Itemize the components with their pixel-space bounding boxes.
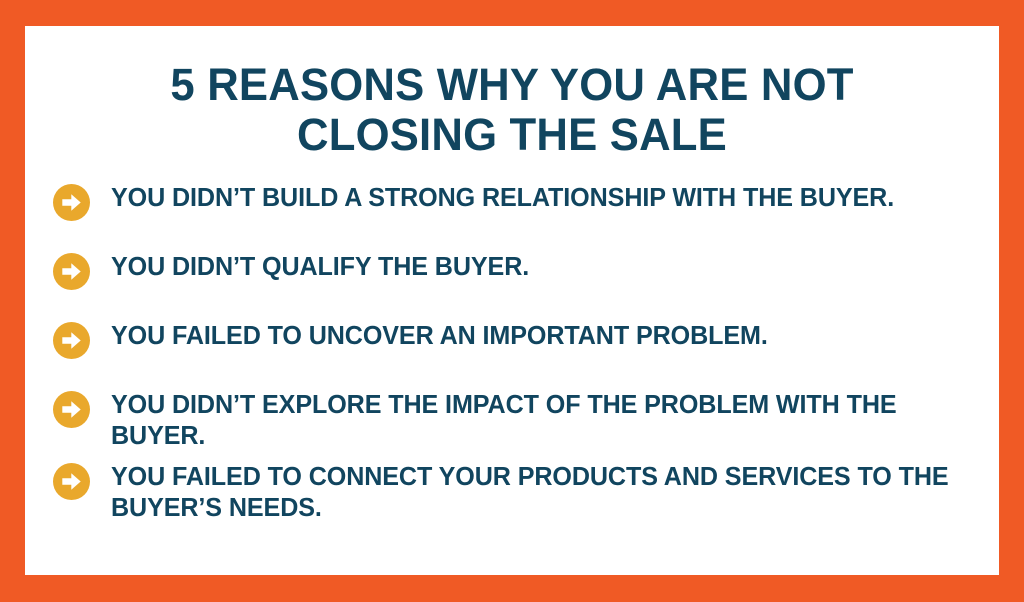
list-item: YOU DIDN’T QUALIFY THE BUYER. <box>53 252 977 290</box>
list-item-label: YOU FAILED TO CONNECT YOUR PRODUCTS AND … <box>111 462 964 524</box>
list-item-label: YOU DIDN’T BUILD A STRONG RELATIONSHIP W… <box>111 183 964 214</box>
slide-card: 5 REASONS WHY YOU ARE NOT CLOSING THE SA… <box>25 26 999 575</box>
list-item-label: YOU DIDN’T QUALIFY THE BUYER. <box>111 252 964 283</box>
list-item: YOU FAILED TO CONNECT YOUR PRODUCTS AND … <box>53 462 977 524</box>
list-item: YOU DIDN’T EXPLORE THE IMPACT OF THE PRO… <box>53 390 977 452</box>
list-item-label: YOU DIDN’T EXPLORE THE IMPACT OF THE PRO… <box>111 390 964 452</box>
list-item: YOU DIDN’T BUILD A STRONG RELATIONSHIP W… <box>53 183 977 221</box>
list-item-label: YOU FAILED TO UNCOVER AN IMPORTANT PROBL… <box>111 321 964 352</box>
reason-list: YOU DIDN’T BUILD A STRONG RELATIONSHIP W… <box>53 183 977 524</box>
list-item: YOU FAILED TO UNCOVER AN IMPORTANT PROBL… <box>53 321 977 359</box>
page-title: 5 REASONS WHY YOU ARE NOT CLOSING THE SA… <box>25 60 999 160</box>
arrow-right-circle-icon <box>53 253 90 290</box>
arrow-right-circle-icon <box>53 463 90 500</box>
slide-frame: 5 REASONS WHY YOU ARE NOT CLOSING THE SA… <box>0 0 1024 602</box>
arrow-right-circle-icon <box>53 184 90 221</box>
page-title-line-2: CLOSING THE SALE <box>40 110 985 160</box>
page-title-line-1: 5 REASONS WHY YOU ARE NOT <box>40 60 985 110</box>
arrow-right-circle-icon <box>53 391 90 428</box>
arrow-right-circle-icon <box>53 322 90 359</box>
